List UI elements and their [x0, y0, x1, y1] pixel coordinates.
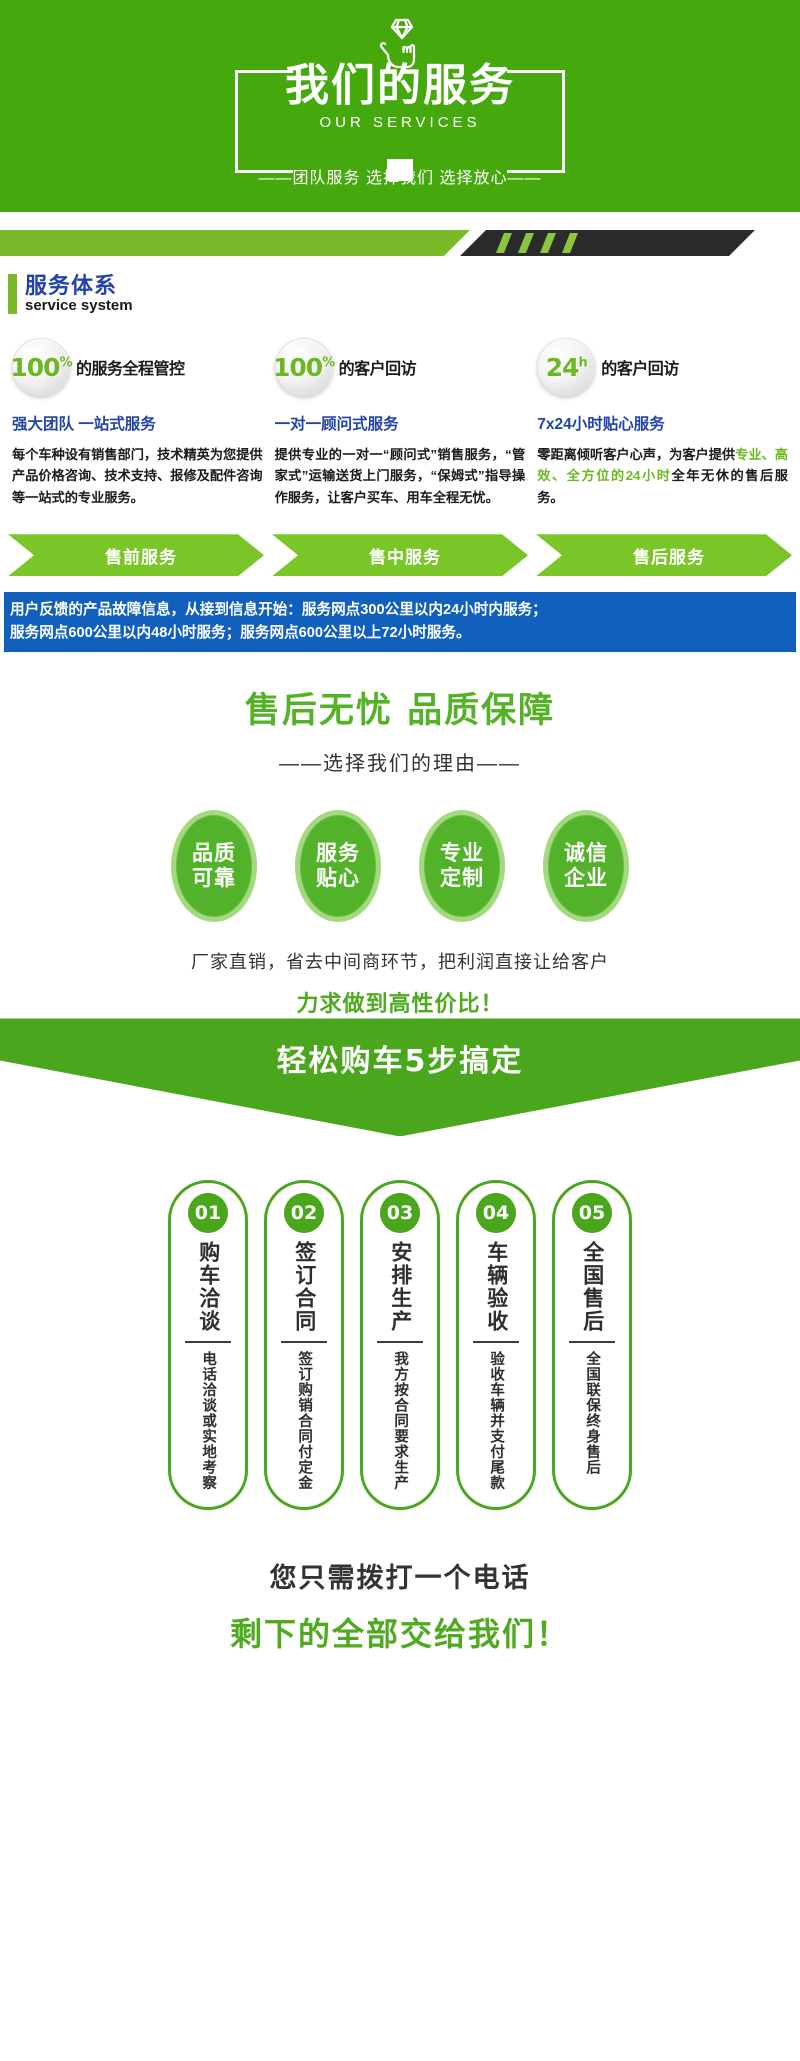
reason-line-2a: 服务 [316, 841, 360, 866]
reason-line-4b: 企业 [564, 866, 608, 891]
step-number-4: 04 [476, 1193, 516, 1233]
badge-unit-1: % [60, 355, 72, 370]
service-column-3: 24h 的客户回访 7x24小时贴心服务 零距离倾听客户心声，为客户提供专业、高… [531, 336, 794, 508]
reason-line-1b: 可靠 [192, 866, 236, 891]
hero-title: 我们的服务 [235, 62, 565, 110]
reason-line-2b: 贴心 [316, 866, 360, 891]
section-header-service-system: 服务体系 service system [0, 266, 800, 314]
service-columns: 100% 的服务全程管控 强大团队 一站式服务 每个车种设有销售部门，技术精英为… [0, 336, 800, 508]
service-column-1: 100% 的服务全程管控 强大团队 一站式服务 每个车种设有销售部门，技术精英为… [6, 336, 269, 508]
stage-chevrons: 售前服务 售中服务 售后服务 [0, 534, 800, 576]
step-divider-4 [473, 1341, 519, 1343]
badge-row-3: 24h 的客户回访 [537, 336, 788, 398]
reason-line-3a: 专业 [440, 841, 484, 866]
reason-line-3b: 定制 [440, 866, 484, 891]
step-divider-2 [281, 1341, 327, 1343]
step-title-2: 签订合同 [292, 1241, 316, 1333]
badge-circle-icon-3: 24h [537, 338, 595, 396]
stage-chevron-presale[interactable]: 售前服务 [8, 534, 264, 576]
slogan-block: 售后无忧 品质保障 ——选择我们的理由—— [0, 682, 800, 776]
reason-item-4: 诚信 企业 [543, 810, 629, 922]
badge-circle-icon-2: 100% [275, 338, 333, 396]
step-divider-5 [569, 1341, 615, 1343]
service-column-title-2: 一对一顾问式服务 [275, 412, 526, 434]
badge-number-value-2: 100 [273, 353, 322, 382]
stage-label-3: 售后服务 [633, 543, 705, 568]
reason-line-1a: 品质 [192, 841, 236, 866]
step-divider-3 [377, 1341, 423, 1343]
hero-banner: 我们的服务 OUR SERVICES ——团队服务 选择我们 选择放心—— [0, 0, 800, 212]
body-part-1: 零距离倾听客户心声，为客户提供 [537, 447, 735, 462]
step-number-1: 01 [188, 1193, 228, 1233]
reason-item-3: 专业 定制 [419, 810, 505, 922]
price-statement: 厂家直销，省去中间商环节，把利润直接让给客户 [0, 948, 800, 974]
step-number-5: 05 [572, 1193, 612, 1233]
stage-label-2: 售中服务 [369, 543, 441, 568]
step-desc-5: 全国联保终身售后 [583, 1351, 601, 1475]
badge-number-3: 24h [546, 353, 587, 382]
service-column-2: 100% 的客户回访 一对一顾问式服务 提供专业的一对一“顾问式”销售服务，“管… [269, 336, 532, 508]
footer-cta: 您只需拨打一个电话 剩下的全部交给我们！ [0, 1556, 800, 1671]
service-policy-note: 用户反馈的产品故障信息，从接到信息开始：服务网点300公里以内24小时内服务； … [4, 592, 796, 652]
service-column-body-3: 零距离倾听客户心声，为客户提供专业、高效、全方位的24小时全年无休的售后服务。 [537, 444, 788, 508]
step-item-2[interactable]: 02 签订合同 签订购销合同付定金 [264, 1180, 344, 1510]
reason-line-4a: 诚信 [564, 841, 608, 866]
step-title-1: 购车洽谈 [196, 1241, 220, 1333]
step-title-3: 安排生产 [388, 1241, 412, 1333]
footer-line-2: 剩下的全部交给我们！ [0, 1609, 800, 1655]
badge-number-1: 100% [10, 353, 71, 382]
step-divider-1 [185, 1341, 231, 1343]
section-title-en: service system [25, 297, 133, 314]
badge-number-value-3: 24 [546, 353, 579, 382]
badge-label-2: 的客户回访 [339, 355, 417, 379]
section-title-cn: 服务体系 [25, 274, 133, 297]
service-column-title-3: 7x24小时贴心服务 [537, 412, 788, 434]
step-title-5: 全国售后 [580, 1241, 604, 1333]
badge-unit-3: h [579, 355, 587, 370]
price-slogan: 力求做到高性价比！ [0, 986, 800, 1018]
slogan-main: 售后无忧 品质保障 [0, 682, 800, 733]
decorative-bar [0, 224, 800, 266]
badge-unit-2: % [322, 355, 334, 370]
step-item-5[interactable]: 05 全国售后 全国联保终身售后 [552, 1180, 632, 1510]
stage-chevron-insale[interactable]: 售中服务 [272, 534, 528, 576]
hero-tagline: ——团队服务 选择我们 选择放心—— [0, 164, 800, 188]
footer-line-1: 您只需拨打一个电话 [0, 1556, 800, 1595]
slogan-sub: ——选择我们的理由—— [0, 747, 800, 776]
step-title-4: 车辆验收 [484, 1241, 508, 1333]
step-desc-1: 电话洽谈或实地考察 [199, 1351, 217, 1491]
step-number-2: 02 [284, 1193, 324, 1233]
reason-item-2: 服务 贴心 [295, 810, 381, 922]
badge-label-1: 的服务全程管控 [76, 355, 185, 379]
stage-chevron-aftersale[interactable]: 售后服务 [536, 534, 792, 576]
reason-item-1: 品质 可靠 [171, 810, 257, 922]
section-tick-mark [8, 274, 17, 314]
body-highlight-2: 24小时 [626, 468, 672, 483]
badge-row-2: 100% 的客户回访 [275, 336, 526, 398]
badge-row-1: 100% 的服务全程管控 [12, 336, 263, 398]
policy-note-line-1: 用户反馈的产品故障信息，从接到信息开始：服务网点300公里以内24小时内服务； [10, 599, 790, 622]
service-column-body-2: 提供专业的一对一“顾问式”销售服务，“管家式”运输送货上门服务，“保姆式”指导操… [275, 444, 526, 508]
hero-subtitle: OUR SERVICES [235, 114, 565, 131]
badge-label-3: 的客户回访 [601, 355, 679, 379]
step-item-4[interactable]: 04 车辆验收 验收车辆并支付尾款 [456, 1180, 536, 1510]
stage-label-1: 售前服务 [105, 543, 177, 568]
badge-number-value-1: 100 [10, 353, 59, 382]
step-desc-2: 签订购销合同付定金 [295, 1351, 313, 1491]
step-number-3: 03 [380, 1193, 420, 1233]
step-desc-3: 我方按合同要求生产 [391, 1351, 409, 1491]
step-item-1[interactable]: 01 购车洽谈 电话洽谈或实地考察 [168, 1180, 248, 1510]
hero-title-frame: 我们的服务 OUR SERVICES [235, 70, 565, 145]
step-desc-4: 验收车辆并支付尾款 [487, 1351, 505, 1491]
service-column-body-1: 每个车种设有销售部门，技术精英为您提供产品价格咨询、技术支持、报修及配件咨询等一… [12, 444, 263, 508]
reasons-list: 品质 可靠 服务 贴心 专业 定制 诚信 企业 [0, 810, 800, 922]
steps-banner-title: 轻松购车5步搞定 [277, 1036, 524, 1080]
step-item-3[interactable]: 03 安排生产 我方按合同要求生产 [360, 1180, 440, 1510]
purchase-steps: 01 购车洽谈 电话洽谈或实地考察 02 签订合同 签订购销合同付定金 03 安… [0, 1180, 800, 1510]
badge-number-2: 100% [273, 353, 334, 382]
badge-circle-icon-1: 100% [12, 338, 70, 396]
bar-green-shape [0, 230, 470, 256]
service-column-title-1: 强大团队 一站式服务 [12, 412, 263, 434]
policy-note-line-2: 服务网点600公里以内48小时服务；服务网点600公里以上72小时服务。 [10, 622, 790, 645]
steps-banner-arrow: 轻松购车5步搞定 [0, 1018, 800, 1136]
infographic-page: 我们的服务 OUR SERVICES ——团队服务 选择我们 选择放心—— 服务… [0, 0, 800, 2061]
